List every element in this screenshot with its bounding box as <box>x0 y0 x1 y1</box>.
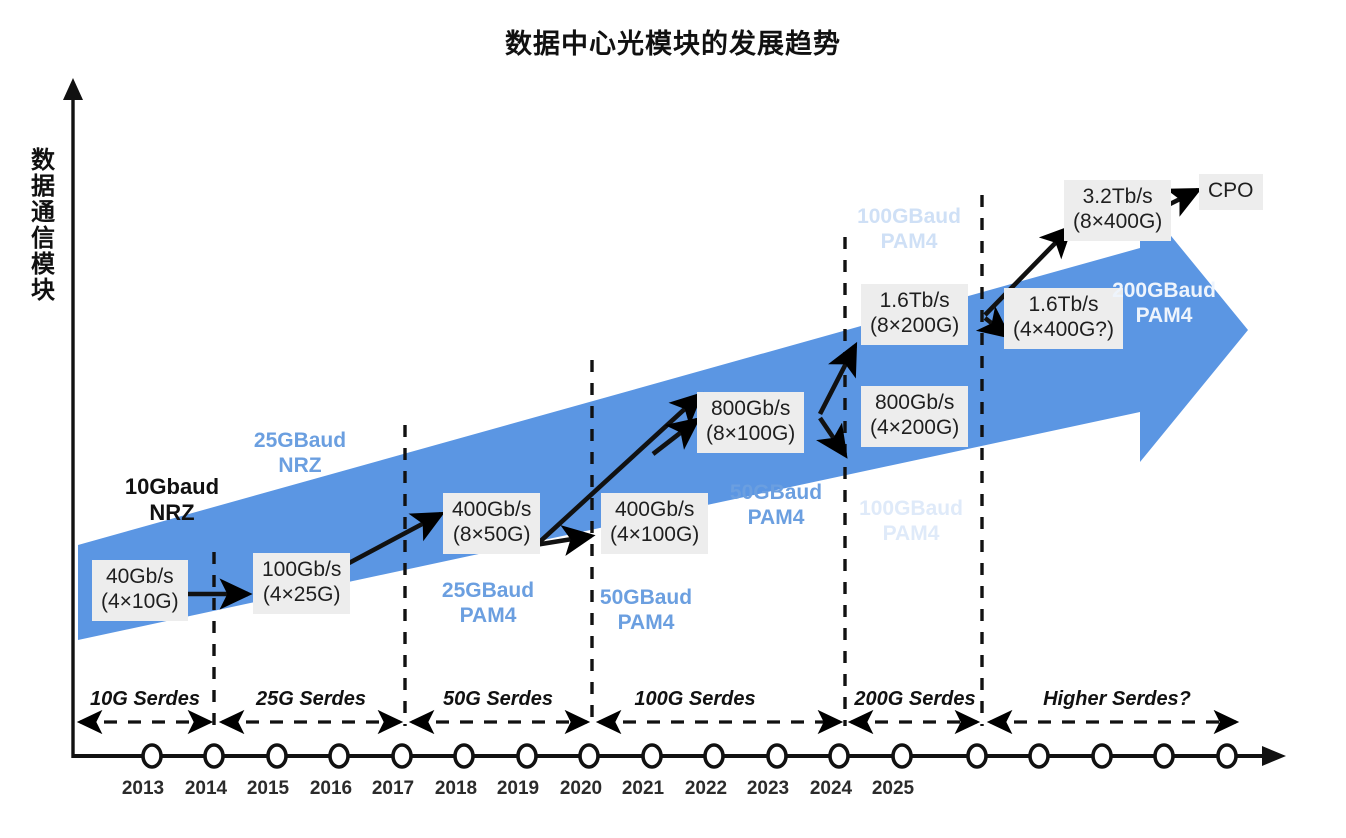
x-tick-label: 2023 <box>738 778 798 800</box>
node-800gbps-4x200g[interactable]: 800Gb/s (4×200G) <box>861 386 968 447</box>
x-tick-label: 2013 <box>113 778 173 800</box>
baud-line2: NRZ <box>149 500 194 525</box>
baud-label-10gbaud-nrz: 10Gbaud NRZ <box>88 474 256 527</box>
baud-label-25gbaud-nrz: 25GBaud NRZ <box>216 428 384 478</box>
serdes-band-100g: 100G Serdes <box>621 688 769 711</box>
baud-line1: 50GBaud <box>730 481 822 504</box>
baud-line2: PAM4 <box>1136 304 1193 327</box>
node-label: 800Gb/s <box>711 397 790 420</box>
node-3-2tbps-8x400g[interactable]: 3.2Tb/s (8×400G) <box>1064 180 1171 241</box>
node-label: 400Gb/s <box>452 498 531 521</box>
node-label: 100Gb/s <box>262 558 341 581</box>
x-tick-label: 2018 <box>426 778 486 800</box>
node-sublabel: (8×200G) <box>870 314 959 339</box>
baud-label-100gbaud-pam4-upper: 100GBaud PAM4 <box>820 204 998 254</box>
node-cpo[interactable]: CPO <box>1199 174 1263 210</box>
baud-line2: PAM4 <box>881 230 938 253</box>
node-sublabel: (4×100G) <box>610 523 699 548</box>
node-sublabel: (4×10G) <box>101 590 179 615</box>
x-tick-label: 2019 <box>488 778 548 800</box>
node-sublabel: (4×200G) <box>870 416 959 441</box>
node-400gbps-8x50g[interactable]: 400Gb/s (8×50G) <box>443 493 540 554</box>
x-tick-label: 2016 <box>301 778 361 800</box>
baud-line1: 25GBaud <box>442 579 534 602</box>
x-tick-label: 2015 <box>238 778 298 800</box>
diagram-canvas: 数据中心光模块的发展趋势 数 据 通 信 模 块 <box>0 0 1346 838</box>
baud-label-100gbaud-pam4-lower: 100GBaud PAM4 <box>822 496 1000 546</box>
x-tick-label: 2024 <box>801 778 861 800</box>
node-sublabel: (8×100G) <box>706 422 795 447</box>
baud-line1: 10Gbaud <box>125 474 219 499</box>
arrow-32-to-cpo <box>1168 190 1198 205</box>
x-tick-label: 2021 <box>613 778 673 800</box>
baud-line2: PAM4 <box>618 611 675 634</box>
baud-line1: 100GBaud <box>859 497 963 520</box>
serdes-band-25g: 25G Serdes <box>246 688 376 711</box>
baud-line2: PAM4 <box>748 506 805 529</box>
baud-label-200gbaud-pam4: 200GBaud PAM4 <box>1075 278 1253 328</box>
baud-line1: 50GBaud <box>600 586 692 609</box>
baud-line2: PAM4 <box>883 522 940 545</box>
node-label: 800Gb/s <box>875 391 954 414</box>
y-axis <box>63 78 83 758</box>
serdes-band-50g: 50G Serdes <box>433 688 563 711</box>
baud-label-50gbaud-pam4-lower: 50GBaud PAM4 <box>562 585 730 635</box>
baud-line2: PAM4 <box>460 604 517 627</box>
node-label: 40Gb/s <box>106 565 174 588</box>
baud-line1: 100GBaud <box>857 205 961 228</box>
baud-label-25gbaud-pam4: 25GBaud PAM4 <box>404 578 572 628</box>
baud-line2: NRZ <box>278 454 321 477</box>
x-tick-label: 2014 <box>176 778 236 800</box>
node-label: 400Gb/s <box>615 498 694 521</box>
serdes-band-higher: Higher Serdes? <box>1032 688 1202 711</box>
node-1-6tbps-8x200g[interactable]: 1.6Tb/s (8×200G) <box>861 284 968 345</box>
node-sublabel: (8×50G) <box>452 523 531 548</box>
baud-line1: 200GBaud <box>1112 279 1216 302</box>
serdes-band-200g: 200G Serdes <box>845 688 985 711</box>
node-sublabel: (8×400G) <box>1073 210 1162 235</box>
baud-line1: 25GBaud <box>254 429 346 452</box>
node-40gbps[interactable]: 40Gb/s (4×10G) <box>92 560 188 621</box>
node-100gbps[interactable]: 100Gb/s (4×25G) <box>253 553 350 614</box>
node-label: 1.6Tb/s <box>880 289 950 312</box>
node-label: CPO <box>1208 179 1254 202</box>
node-sublabel: (4×25G) <box>262 583 341 608</box>
serdes-band-10g: 10G Serdes <box>80 688 210 711</box>
x-tick-label: 2022 <box>676 778 736 800</box>
x-tick-label: 2017 <box>363 778 423 800</box>
node-label: 3.2Tb/s <box>1083 185 1153 208</box>
node-800gbps-8x100g[interactable]: 800Gb/s (8×100G) <box>697 392 804 453</box>
x-tick-label: 2025 <box>863 778 923 800</box>
x-axis <box>73 745 1286 767</box>
diagram-artwork <box>0 0 1346 838</box>
x-tick-label: 2020 <box>551 778 611 800</box>
